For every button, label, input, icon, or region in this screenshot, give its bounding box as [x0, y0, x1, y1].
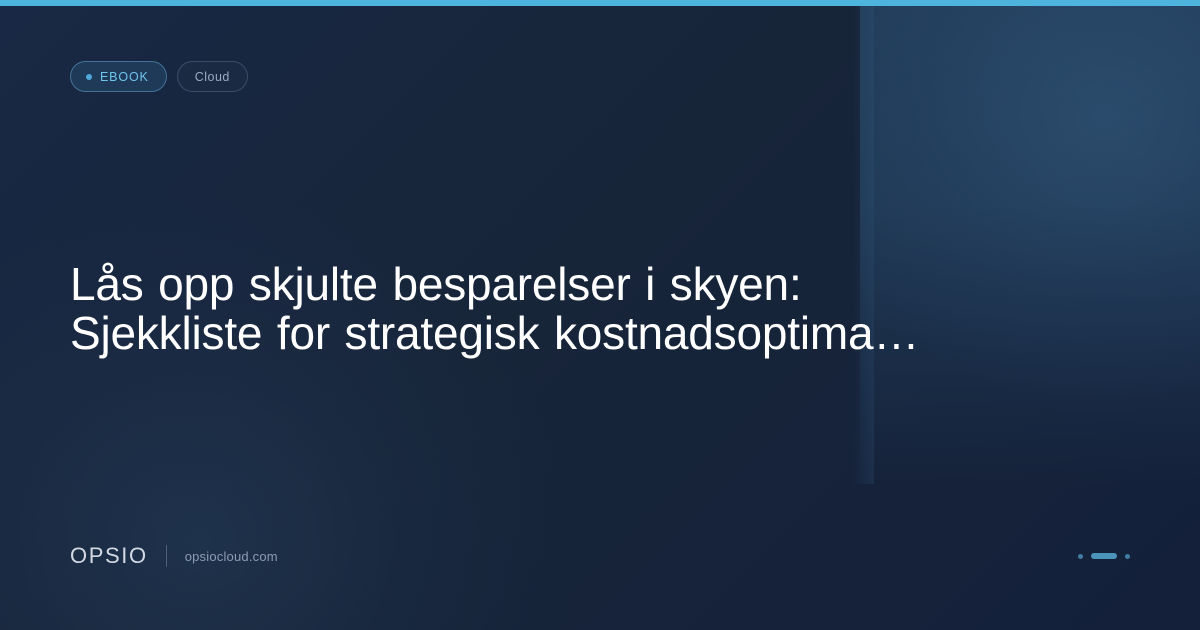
brand-logo-wordmark: OPSIO [70, 543, 148, 569]
brand-website-url: opsiocloud.com [185, 549, 278, 564]
pagination-dot-3[interactable] [1125, 554, 1130, 559]
top-accent-bar [0, 0, 1200, 6]
badge-ebook-label: EBOOK [100, 70, 149, 84]
status-dot-icon [86, 74, 92, 80]
pagination-dot-2[interactable] [1091, 553, 1117, 559]
brand-divider [166, 545, 167, 567]
pagination-indicator[interactable] [1078, 553, 1130, 559]
badge-cloud-label: Cloud [195, 70, 230, 84]
ebook-promo-card: EBOOK Cloud Lås opp skjulte besparelser … [0, 0, 1200, 630]
brand-block: OPSIO opsiocloud.com [70, 543, 278, 569]
badge-ebook[interactable]: EBOOK [70, 61, 167, 92]
badge-group: EBOOK Cloud [70, 61, 248, 92]
card-content: EBOOK Cloud Lås opp skjulte besparelser … [0, 0, 1200, 630]
card-footer: OPSIO opsiocloud.com [70, 542, 1130, 570]
badge-cloud[interactable]: Cloud [177, 61, 248, 92]
pagination-dot-1[interactable] [1078, 554, 1083, 559]
page-title: Lås opp skjulte besparelser i skyen: Sje… [70, 260, 990, 358]
